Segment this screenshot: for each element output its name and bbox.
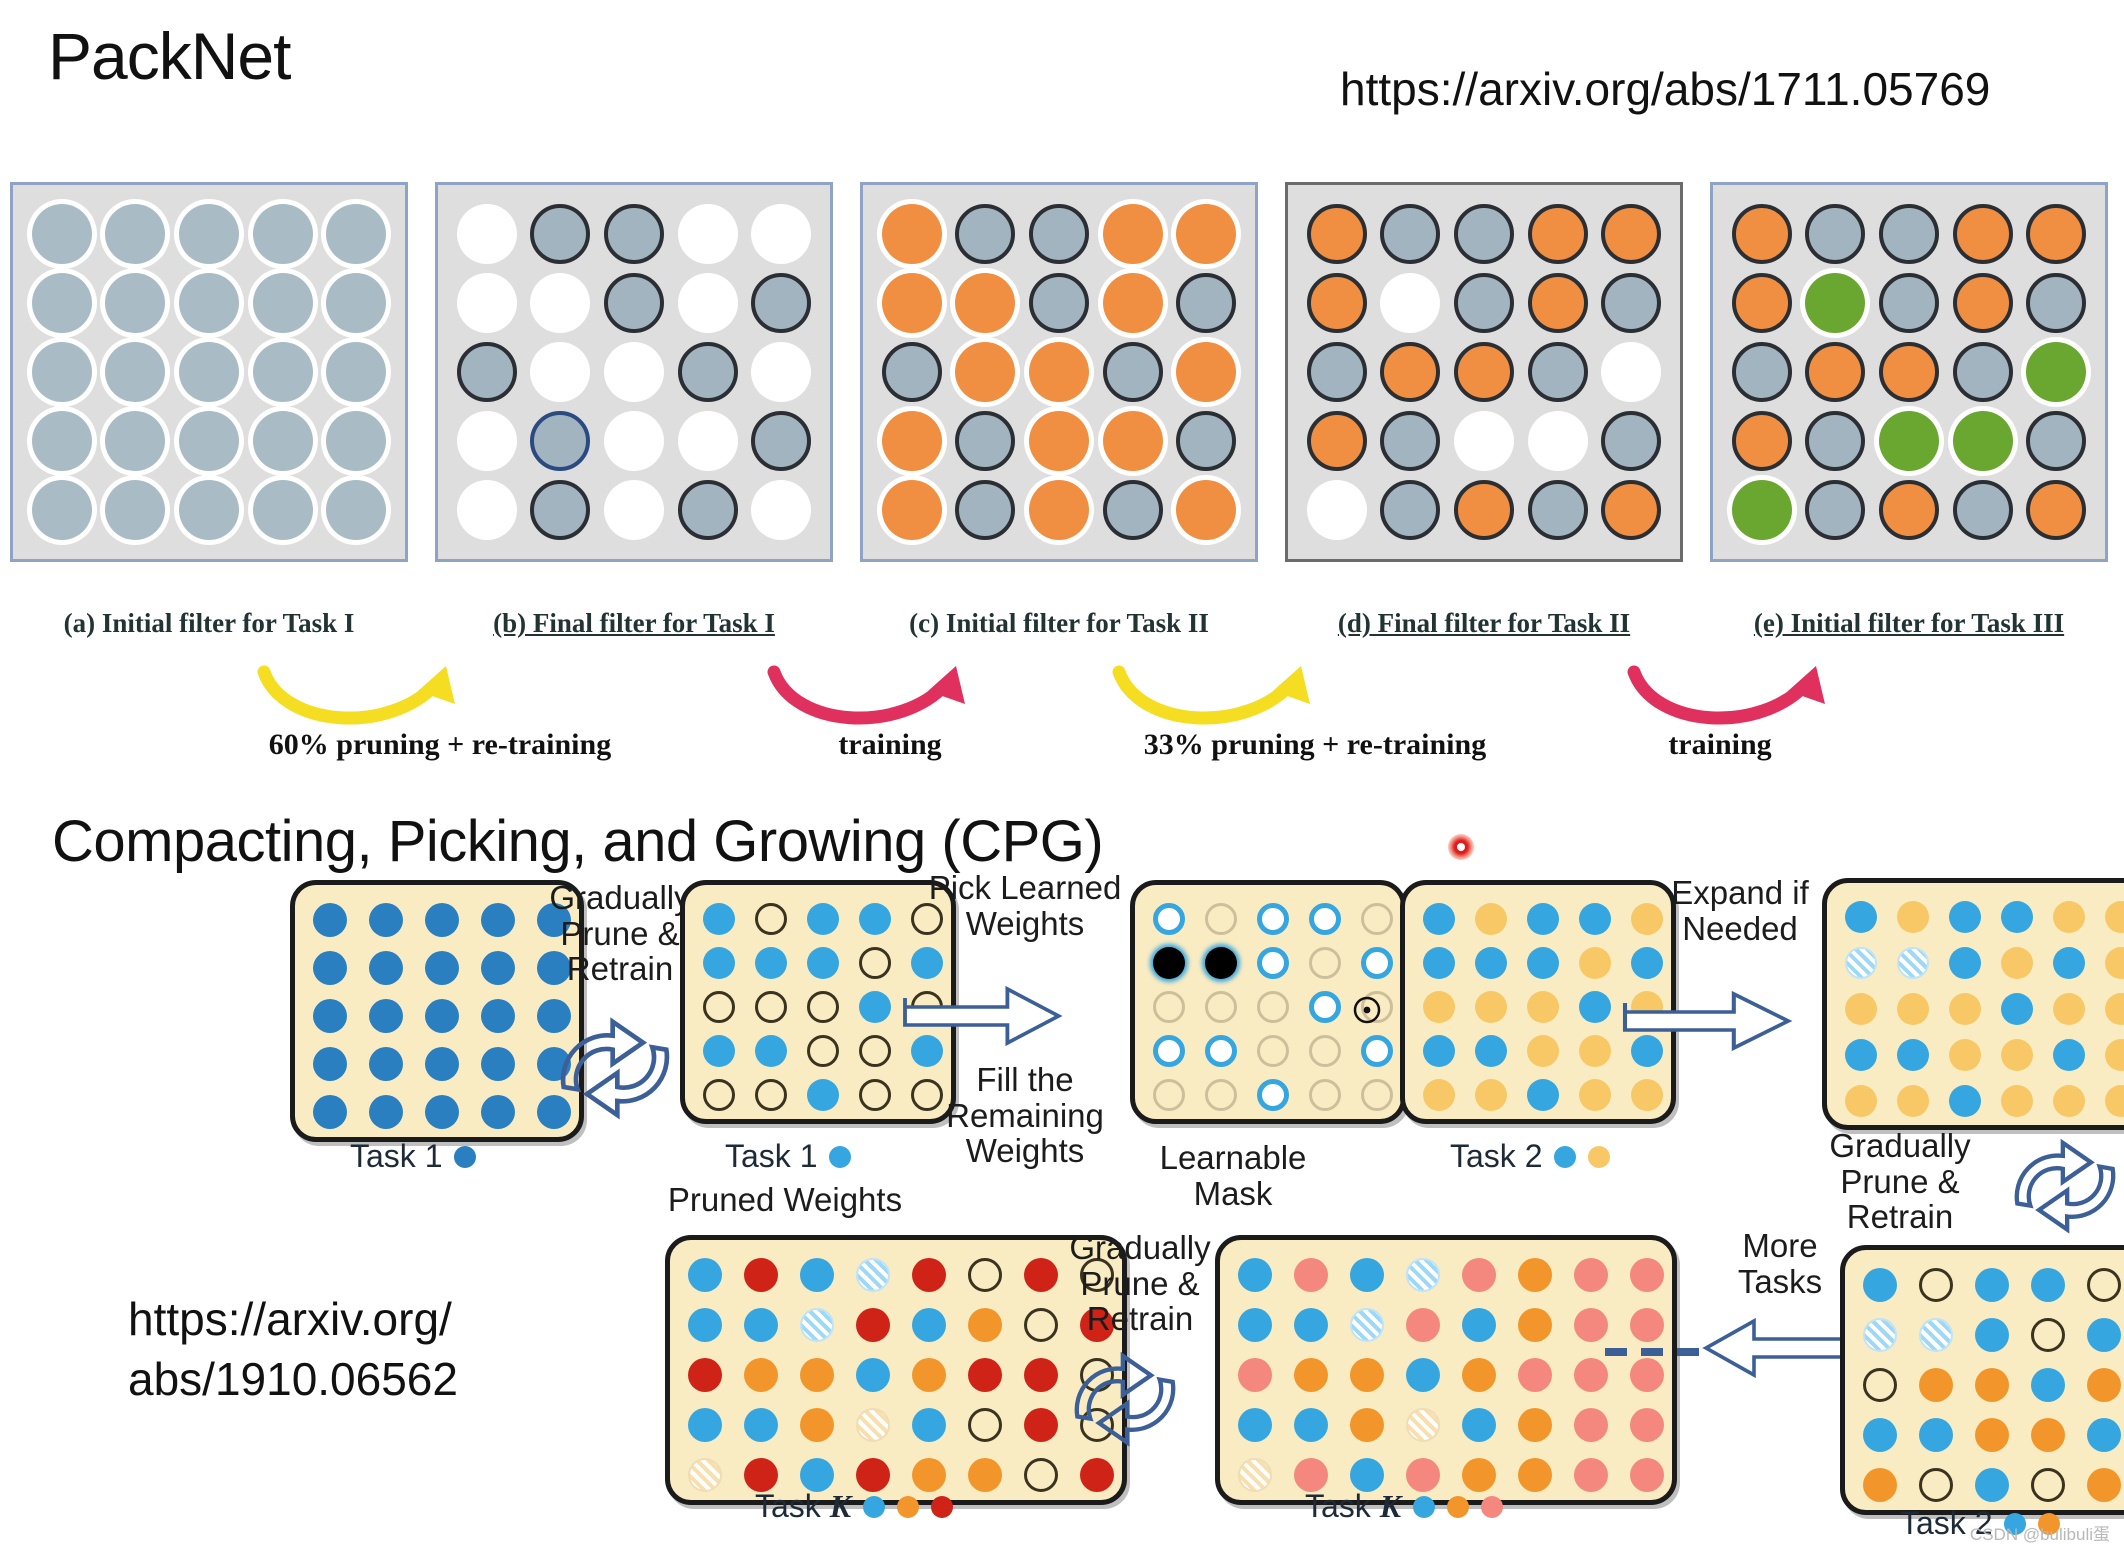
filter-cell — [1029, 273, 1089, 333]
recycle-icon-3 — [1060, 1345, 1190, 1454]
weight-cell — [1845, 1039, 1877, 1071]
filter-cell — [1454, 411, 1514, 471]
legend-dot-blue — [454, 1146, 476, 1168]
weight-cell — [2105, 1039, 2124, 1071]
weight-cell — [744, 1258, 778, 1292]
weight-cell — [856, 1458, 890, 1492]
weight-cell — [2105, 1085, 2124, 1117]
packnet-panel-1 — [435, 182, 833, 562]
weight-cell — [1579, 947, 1611, 979]
filter-cell — [882, 342, 942, 402]
filter-cell — [1103, 480, 1163, 540]
arrow-expand — [1625, 985, 1795, 1062]
cpg-label-learnable-mask: Learnable Mask — [1108, 1140, 1358, 1211]
weight-cell — [2087, 1368, 2121, 1402]
filter-cell — [326, 204, 386, 264]
filter-cell — [105, 204, 165, 264]
filter-cell — [1454, 342, 1514, 402]
weight-cell — [1238, 1308, 1272, 1342]
arrow-pick-learned — [905, 980, 1065, 1057]
weight-cell — [1518, 1308, 1552, 1342]
weight-cell — [1462, 1458, 1496, 1492]
weight-cell — [744, 1308, 778, 1342]
filter-cell — [1879, 273, 1939, 333]
packnet-panel-4 — [1710, 182, 2108, 562]
weight-cell — [800, 1308, 834, 1342]
weight-cell — [1975, 1368, 2009, 1402]
weight-cell — [1897, 1085, 1929, 1117]
weight-cell — [703, 991, 735, 1023]
filter-cell — [882, 204, 942, 264]
filter-cell — [1879, 480, 1939, 540]
filter-cell — [1380, 411, 1440, 471]
red-bullet-icon — [1448, 834, 1474, 860]
weight-cell — [1238, 1358, 1272, 1392]
packnet-title: PackNet — [48, 18, 290, 94]
filter-cell — [882, 480, 942, 540]
packnet-caption-1: (b) Final filter for Task I — [429, 608, 839, 639]
weight-cell — [1863, 1468, 1897, 1502]
cpg-diagram: Task 1Gradually Prune & RetrainTask 1Pru… — [0, 900, 2124, 1540]
weight-cell — [912, 1258, 946, 1292]
packnet-arxiv-link[interactable]: https://arxiv.org/abs/1711.05769 — [1340, 62, 1990, 116]
filter-cell — [32, 411, 92, 471]
watermark: CSDN @bulibuli蛋 — [1970, 1520, 2110, 1545]
weight-cell — [968, 1258, 1002, 1292]
filter-cell — [179, 480, 239, 540]
weight-cell — [1518, 1458, 1552, 1492]
filter-cell — [326, 411, 386, 471]
weight-cell — [703, 1079, 735, 1111]
weight-cell — [425, 903, 459, 937]
filter-cell — [1528, 480, 1588, 540]
filter-cell — [1029, 480, 1089, 540]
filter-cell — [1953, 204, 2013, 264]
weight-cell — [1361, 947, 1393, 979]
filter-cell — [253, 342, 313, 402]
weight-cell — [2105, 947, 2124, 979]
weight-cell — [1527, 1079, 1559, 1111]
filter-cell — [751, 204, 811, 264]
weight-cell — [807, 991, 839, 1023]
packnet-caption-3: (d) Final filter for Task II — [1279, 608, 1689, 639]
weight-cell — [1574, 1358, 1608, 1392]
weight-cell — [744, 1408, 778, 1442]
packnet-transition-label-3: training — [1630, 728, 1810, 762]
weight-cell — [1080, 1458, 1114, 1492]
filter-cell — [105, 411, 165, 471]
weight-cell — [2087, 1268, 2121, 1302]
weight-cell — [800, 1358, 834, 1392]
weight-cell — [755, 1079, 787, 1111]
hadamard-product-icon — [1352, 995, 1382, 1030]
weight-cell — [1423, 947, 1455, 979]
weight-cell — [1975, 1468, 2009, 1502]
weight-cell — [912, 1408, 946, 1442]
weight-cell — [1897, 901, 1929, 933]
cpg-label-task1-pruned-text: Task 1 — [725, 1138, 817, 1175]
weight-cell — [1631, 1079, 1663, 1111]
weight-cell — [425, 951, 459, 985]
weight-cell — [1238, 1258, 1272, 1292]
filter-cell — [457, 342, 517, 402]
weight-cell — [1897, 993, 1929, 1025]
filter-cell — [253, 480, 313, 540]
filter-cell — [530, 342, 590, 402]
weight-cell — [1897, 1039, 1929, 1071]
weight-cell — [2031, 1368, 2065, 1402]
weight-cell — [1309, 947, 1341, 979]
filter-cell — [105, 273, 165, 333]
packnet-transition-row: 60% pruning + re-trainingtraining33% pru… — [0, 660, 2124, 780]
weight-cell — [1574, 1308, 1608, 1342]
filter-cell — [1029, 342, 1089, 402]
weight-cell — [481, 1095, 515, 1129]
weight-cell — [1294, 1458, 1328, 1492]
weight-cell — [688, 1458, 722, 1492]
filter-cell — [751, 411, 811, 471]
weight-cell — [800, 1458, 834, 1492]
filter-cell — [751, 342, 811, 402]
filter-cell — [1103, 411, 1163, 471]
weight-cell — [1845, 947, 1877, 979]
filter-cell — [1176, 480, 1236, 540]
weight-cell — [1153, 947, 1185, 979]
weight-cell — [1631, 947, 1663, 979]
filter-cell — [1879, 204, 1939, 264]
filter-cell — [253, 411, 313, 471]
filter-cell — [1380, 204, 1440, 264]
weight-cell — [313, 999, 347, 1033]
weight-cell — [1518, 1258, 1552, 1292]
filter-cell — [2026, 480, 2086, 540]
weight-cell — [807, 903, 839, 935]
weight-cell — [1153, 991, 1185, 1023]
filter-cell — [1601, 204, 1661, 264]
weight-cell — [1257, 991, 1289, 1023]
filter-cell — [530, 273, 590, 333]
filter-cell — [604, 411, 664, 471]
weight-cell — [2053, 1085, 2085, 1117]
legend-dot-salmon — [1481, 1496, 1503, 1518]
weight-cell — [1949, 993, 1981, 1025]
cpg-label-task1-text: Task 1 — [350, 1138, 442, 1175]
filter-cell — [457, 204, 517, 264]
filter-cell — [2026, 204, 2086, 264]
weight-cell — [1205, 1079, 1237, 1111]
weight-cell — [856, 1258, 890, 1292]
filter-cell — [1380, 480, 1440, 540]
weight-cell — [859, 947, 891, 979]
weight-cell — [1257, 1035, 1289, 1067]
filter-cell — [1732, 204, 1792, 264]
filter-cell — [1879, 411, 1939, 471]
filter-cell — [1953, 273, 2013, 333]
weight-cell — [425, 999, 459, 1033]
weight-cell — [1024, 1458, 1058, 1492]
cpg-text-expand-if-needed: Expand if Needed — [1630, 875, 1850, 946]
weight-cell — [1361, 1035, 1393, 1067]
weight-cell — [1406, 1308, 1440, 1342]
weight-cell — [369, 1095, 403, 1129]
packnet-caption-row: (a) Initial filter for Task I(b) Final f… — [0, 608, 2124, 652]
weight-cell — [1475, 947, 1507, 979]
weight-cell — [911, 947, 943, 979]
filter-cell — [1528, 204, 1588, 264]
weight-cell — [1462, 1358, 1496, 1392]
packnet-panel-3 — [1285, 182, 1683, 562]
weight-cell — [313, 1095, 347, 1129]
filter-cell — [457, 273, 517, 333]
weight-cell — [1309, 903, 1341, 935]
filter-cell — [32, 273, 92, 333]
weight-cell — [425, 1047, 459, 1081]
weight-cell — [1406, 1458, 1440, 1492]
weight-cell — [2001, 901, 2033, 933]
weight-cell — [2001, 1039, 2033, 1071]
filter-cell — [1029, 411, 1089, 471]
recycle-icon-1 — [545, 1010, 685, 1127]
filter-cell — [32, 480, 92, 540]
filter-cell — [882, 411, 942, 471]
filter-cell — [1528, 273, 1588, 333]
filter-cell — [604, 342, 664, 402]
weight-cell — [1863, 1368, 1897, 1402]
weight-cell — [1475, 991, 1507, 1023]
filter-cell — [105, 342, 165, 402]
recycle-icon-2 — [2000, 1132, 2124, 1241]
filter-cell — [1601, 411, 1661, 471]
weight-cell — [2053, 993, 2085, 1025]
filter-cell — [1176, 204, 1236, 264]
weight-cell — [856, 1308, 890, 1342]
weight-cell — [856, 1408, 890, 1442]
weight-cell — [688, 1308, 722, 1342]
weight-cell — [1350, 1408, 1384, 1442]
filter-cell — [1103, 342, 1163, 402]
filter-cell — [179, 411, 239, 471]
weight-cell — [1257, 947, 1289, 979]
filter-cell — [1879, 342, 1939, 402]
weight-cell — [1919, 1418, 1953, 1452]
weight-cell — [1574, 1458, 1608, 1492]
weight-cell — [800, 1258, 834, 1292]
weight-cell — [2053, 901, 2085, 933]
filter-cell — [1029, 204, 1089, 264]
weight-cell — [755, 991, 787, 1023]
weight-cell — [2087, 1318, 2121, 1352]
weight-cell — [2053, 947, 2085, 979]
weight-cell — [1406, 1408, 1440, 1442]
weight-cell — [1423, 1035, 1455, 1067]
weight-cell — [1309, 1035, 1341, 1067]
legend-dot-light_blue — [829, 1146, 851, 1168]
weight-cell — [968, 1458, 1002, 1492]
filter-cell — [530, 204, 590, 264]
filter-cell — [1805, 273, 1865, 333]
filter-cell — [530, 480, 590, 540]
cpg-grid-taskK-middle — [1215, 1235, 1677, 1505]
weight-cell — [807, 1035, 839, 1067]
weight-cell — [2031, 1318, 2065, 1352]
weight-cell — [1863, 1268, 1897, 1302]
filter-cell — [1732, 342, 1792, 402]
cpg-label-task1-pruned: Task 1 — [725, 1138, 851, 1175]
weight-cell — [859, 1079, 891, 1111]
filter-cell — [32, 342, 92, 402]
filter-cell — [955, 342, 1015, 402]
weight-cell — [1949, 901, 1981, 933]
filter-cell — [678, 480, 738, 540]
weight-cell — [425, 1095, 459, 1129]
arrow-more-tasks — [1700, 1312, 1850, 1389]
weight-cell — [1574, 1408, 1608, 1442]
weight-cell — [369, 951, 403, 985]
weight-cell — [1462, 1408, 1496, 1442]
weight-cell — [2087, 1418, 2121, 1452]
packnet-panel-row — [10, 182, 2120, 572]
filter-cell — [1454, 480, 1514, 540]
weight-cell — [1024, 1408, 1058, 1442]
weight-cell — [1574, 1258, 1608, 1292]
curved-arrow-icon — [1620, 660, 1840, 732]
weight-cell — [1975, 1418, 2009, 1452]
filter-cell — [1454, 273, 1514, 333]
weight-cell — [968, 1358, 1002, 1392]
filter-cell — [326, 480, 386, 540]
weight-cell — [1361, 1079, 1393, 1111]
weight-cell — [2031, 1268, 2065, 1302]
weight-cell — [1919, 1468, 1953, 1502]
weight-cell — [1475, 1079, 1507, 1111]
weight-cell — [856, 1358, 890, 1392]
weight-cell — [1294, 1308, 1328, 1342]
filter-cell — [457, 411, 517, 471]
weight-cell — [968, 1308, 1002, 1342]
weight-cell — [1630, 1258, 1664, 1292]
weight-cell — [1949, 947, 1981, 979]
filter-cell — [1953, 480, 2013, 540]
filter-cell — [955, 204, 1015, 264]
weight-cell — [2053, 1039, 2085, 1071]
weight-cell — [755, 903, 787, 935]
weight-cell — [1919, 1368, 1953, 1402]
weight-cell — [688, 1358, 722, 1392]
legend-dot-light_blue — [863, 1496, 885, 1518]
legend-dot-light_blue — [1554, 1146, 1576, 1168]
curved-arrow-icon — [250, 660, 470, 732]
weight-cell — [1579, 991, 1611, 1023]
cpg-label-task1: Task 1 — [350, 1138, 476, 1175]
cpg-label-taskK-left-text: Task K — [755, 1488, 851, 1525]
filter-cell — [179, 204, 239, 264]
weight-cell — [1153, 1079, 1185, 1111]
weight-cell — [1949, 1039, 1981, 1071]
packnet-caption-2: (c) Initial filter for Task II — [854, 608, 1264, 639]
weight-cell — [744, 1458, 778, 1492]
weight-cell — [1294, 1358, 1328, 1392]
cpg-label-taskK-left: Task K — [755, 1488, 953, 1525]
weight-cell — [1863, 1318, 1897, 1352]
weight-cell — [1257, 903, 1289, 935]
weight-cell — [703, 903, 735, 935]
weight-cell — [481, 1047, 515, 1081]
weight-cell — [1205, 1035, 1237, 1067]
weight-cell — [1975, 1268, 2009, 1302]
filter-cell — [179, 273, 239, 333]
weight-cell — [2105, 993, 2124, 1025]
filter-cell — [326, 342, 386, 402]
filter-cell — [1601, 273, 1661, 333]
filter-cell — [955, 411, 1015, 471]
weight-cell — [369, 999, 403, 1033]
weight-cell — [1423, 1079, 1455, 1111]
filter-cell — [1805, 411, 1865, 471]
weight-cell — [1294, 1408, 1328, 1442]
weight-cell — [1919, 1318, 1953, 1352]
weight-cell — [1423, 903, 1455, 935]
packnet-panel-0 — [10, 182, 408, 562]
filter-cell — [1805, 342, 1865, 402]
weight-cell — [1518, 1358, 1552, 1392]
weight-cell — [688, 1408, 722, 1442]
cpg-title: Compacting, Picking, and Growing (CPG) — [52, 808, 1103, 875]
filter-cell — [457, 480, 517, 540]
weight-cell — [313, 1047, 347, 1081]
cpg-text-prune-retrain-3: Gradually Prune & Retrain — [1040, 1230, 1240, 1337]
dashed-connector-icon — [1605, 1345, 1715, 1364]
filter-cell — [1307, 204, 1367, 264]
filter-cell — [1528, 342, 1588, 402]
weight-cell — [1361, 903, 1393, 935]
weight-cell — [1845, 901, 1877, 933]
filter-cell — [751, 480, 811, 540]
packnet-transition-label-1: training — [800, 728, 980, 762]
filter-cell — [1103, 273, 1163, 333]
packnet-transition-label-2: 33% pruning + re-training — [1105, 728, 1525, 762]
weight-cell — [1949, 1085, 1981, 1117]
filter-cell — [1805, 204, 1865, 264]
cpg-grid-task2-expanded — [1822, 878, 2124, 1130]
filter-cell — [1103, 204, 1163, 264]
weight-cell — [1897, 947, 1929, 979]
weight-cell — [703, 1035, 735, 1067]
filter-cell — [1732, 273, 1792, 333]
weight-cell — [755, 947, 787, 979]
filter-cell — [1454, 204, 1514, 264]
filter-cell — [1380, 342, 1440, 402]
weight-cell — [313, 951, 347, 985]
filter-cell — [1176, 411, 1236, 471]
packnet-transition-2 — [1105, 660, 1325, 737]
packnet-panel-2 — [860, 182, 1258, 562]
weight-cell — [2105, 901, 2124, 933]
weight-cell — [1462, 1258, 1496, 1292]
filter-cell — [678, 204, 738, 264]
filter-cell — [32, 204, 92, 264]
weight-cell — [1527, 903, 1559, 935]
packnet-caption-0: (a) Initial filter for Task I — [4, 608, 414, 639]
filter-cell — [1732, 411, 1792, 471]
cpg-label-task2-small-text: Task 2 — [1450, 1138, 1542, 1175]
weight-cell — [1579, 1035, 1611, 1067]
weight-cell — [1309, 991, 1341, 1023]
weight-cell — [1238, 1408, 1272, 1442]
cpg-text-prune-retrain-2: Gradually Prune & Retrain — [1790, 1128, 2010, 1235]
filter-cell — [882, 273, 942, 333]
weight-cell — [1475, 1035, 1507, 1067]
filter-cell — [1601, 342, 1661, 402]
